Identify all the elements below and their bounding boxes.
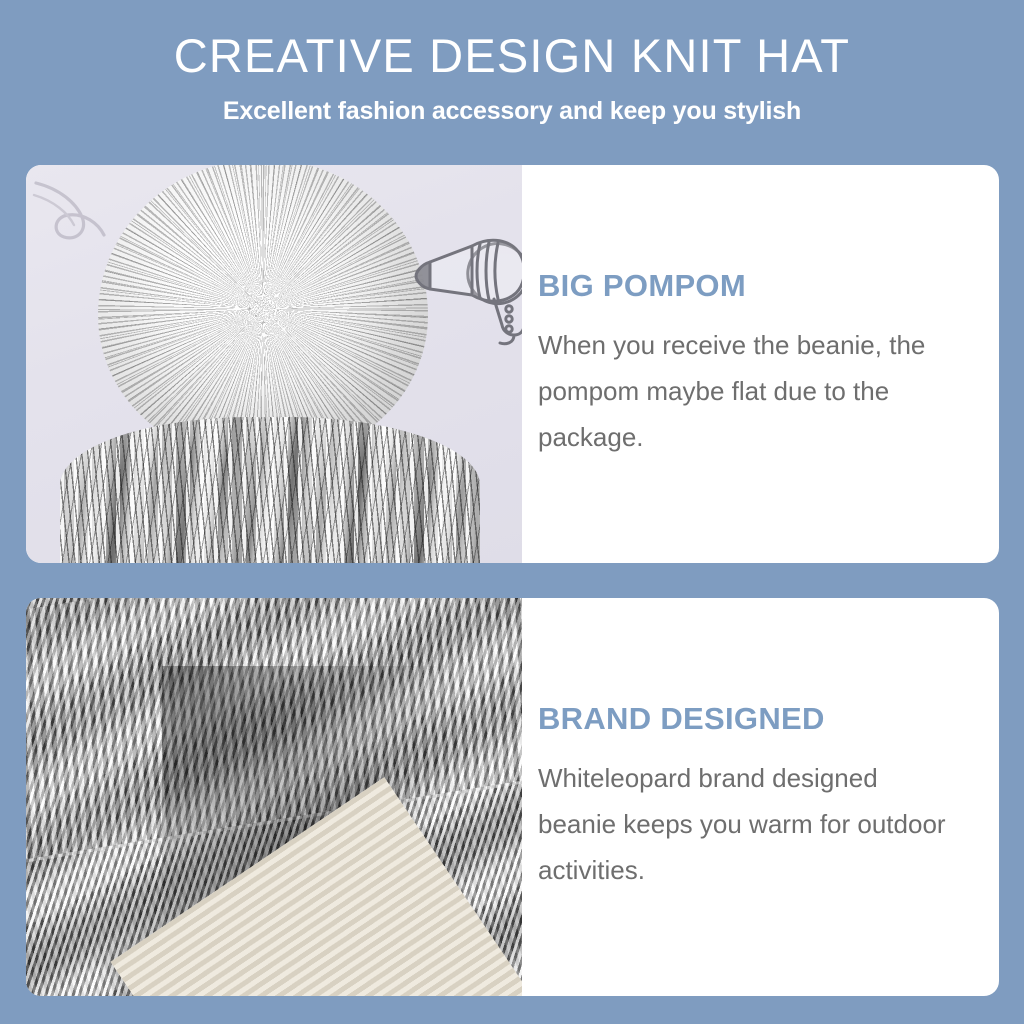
knit-hat-fleck-texture bbox=[60, 417, 480, 563]
knit-hat-crown bbox=[60, 417, 480, 563]
feature-title: BRAND DESIGNED bbox=[538, 701, 969, 737]
page-title: CREATIVE DESIGN KNIT HAT bbox=[0, 30, 1024, 83]
feature-body: When you receive the beanie, the pompom … bbox=[538, 322, 958, 461]
knit-fabric-background bbox=[26, 598, 522, 996]
knit-fabric-photo bbox=[26, 598, 522, 996]
brand-text-panel: BRAND DESIGNED Whiteleopard brand design… bbox=[522, 598, 999, 996]
feature-body: Whiteleopard brand designed beanie keeps… bbox=[538, 755, 958, 894]
feature-card-brand-designed: BRAND DESIGNED Whiteleopard brand design… bbox=[26, 598, 999, 996]
page-subtitle: Excellent fashion accessory and keep you… bbox=[0, 97, 1024, 126]
header: CREATIVE DESIGN KNIT HAT Excellent fashi… bbox=[0, 0, 1024, 126]
feature-card-big-pompom: BIG POMPOM When you receive the beanie, … bbox=[26, 165, 999, 563]
pompom-photo bbox=[26, 165, 522, 563]
feature-title: BIG POMPOM bbox=[538, 268, 969, 304]
hair-dryer-icon bbox=[410, 213, 522, 348]
pompom-text-panel: BIG POMPOM When you receive the beanie, … bbox=[522, 165, 999, 563]
